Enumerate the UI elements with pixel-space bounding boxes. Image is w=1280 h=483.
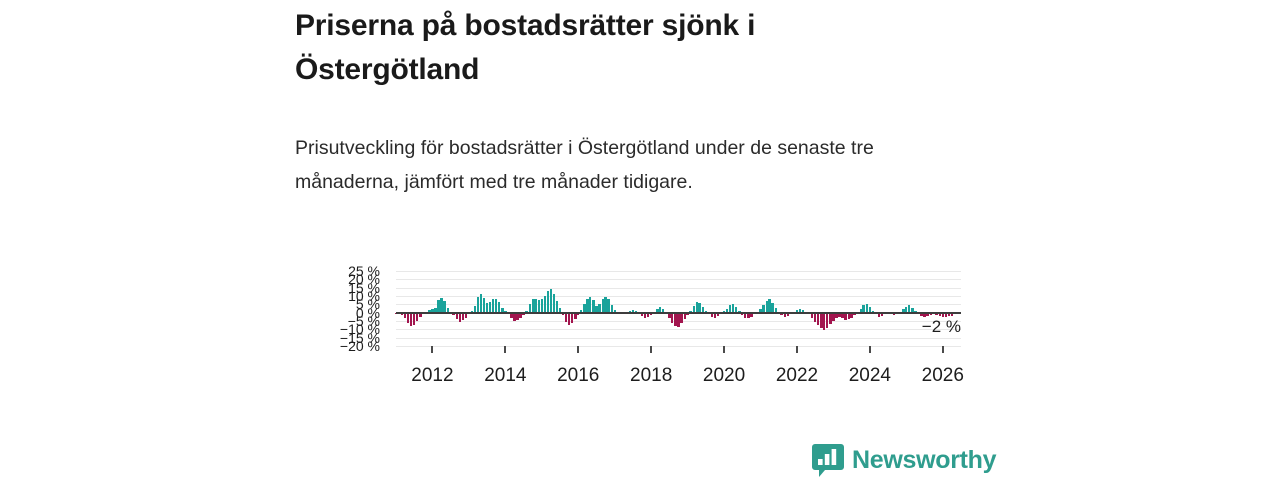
bar-chart-speech-bubble-icon: [812, 443, 844, 478]
y-axis-tick-label: −20 %: [318, 339, 380, 353]
x-axis-tick-label: 2024: [849, 365, 891, 387]
bar: [534, 299, 536, 312]
zero-line: [396, 312, 961, 314]
gridline: [396, 271, 961, 272]
x-axis-tick-mark: [577, 346, 579, 353]
x-axis-tick-mark: [431, 346, 433, 353]
x-axis-tick-label: 2012: [411, 365, 453, 387]
gridline: [396, 338, 961, 339]
bar: [671, 313, 673, 323]
bar: [589, 297, 591, 313]
page-title: Priserna på bostadsrätter sjönk i Österg…: [295, 4, 895, 91]
x-axis-tick-mark: [504, 346, 506, 353]
bar: [516, 313, 518, 321]
x-axis-tick-mark: [796, 346, 798, 353]
bar: [571, 313, 573, 324]
bar: [407, 313, 409, 324]
x-axis-tick-mark: [650, 346, 652, 353]
logo-wordmark: Newsworthy: [852, 446, 996, 475]
x-axis-tick-mark: [869, 346, 871, 353]
bar: [553, 294, 555, 312]
plot-area: −2 %: [396, 271, 961, 346]
bar: [416, 313, 418, 321]
bar: [607, 299, 609, 312]
bar-chart: 25 %20 %15 %10 %5 %0 %−5 %−10 %−15 %−20 …: [318, 266, 968, 388]
bar: [480, 294, 482, 313]
gridline: [396, 288, 961, 289]
x-axis: 20122014201620182020202220242026: [396, 346, 961, 388]
bar: [462, 313, 464, 321]
newsworthy-logo: Newsworthy: [812, 443, 996, 478]
x-axis-tick-mark: [723, 346, 725, 353]
chart-description: Prisutveckling för bostadsrätter i Öster…: [295, 132, 967, 199]
x-axis-tick-label: 2018: [630, 365, 672, 387]
x-axis-tick-mark: [942, 346, 944, 353]
bar: [680, 313, 682, 324]
x-axis-tick-label: 2022: [776, 365, 818, 387]
x-axis-tick-label: 2026: [922, 365, 964, 387]
bar: [544, 296, 546, 313]
gridline: [396, 279, 961, 280]
last-value-annotation: −2 %: [922, 317, 961, 337]
gridline: [396, 329, 961, 330]
x-axis-tick-label: 2014: [484, 365, 526, 387]
bar: [826, 313, 828, 328]
bar: [817, 313, 819, 326]
bar: [844, 313, 846, 321]
x-axis-tick-label: 2020: [703, 365, 745, 387]
x-axis-tick-label: 2016: [557, 365, 599, 387]
y-axis-labels: 25 %20 %15 %10 %5 %0 %−5 %−10 %−15 %−20 …: [318, 266, 380, 348]
